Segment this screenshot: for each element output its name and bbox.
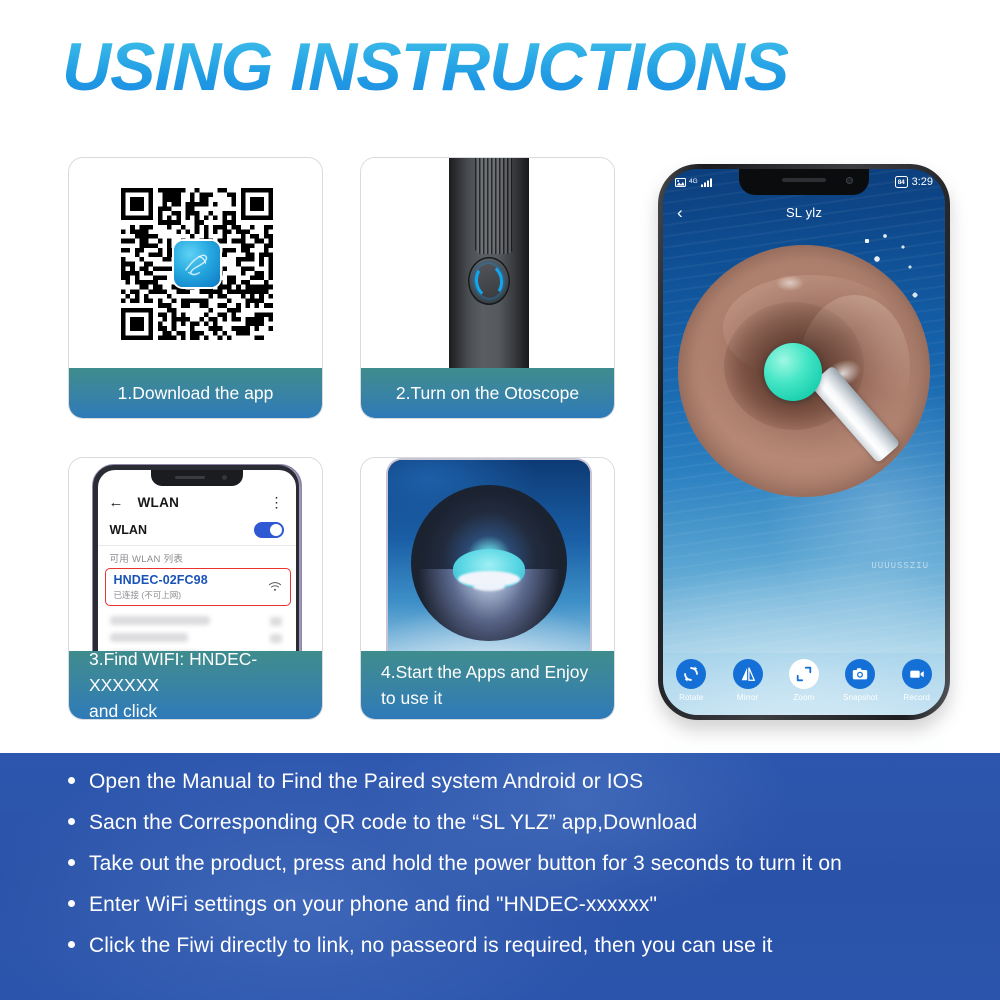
otoscope-circular-view — [411, 485, 567, 641]
wifi-status: 已连接 (不可上网) — [114, 589, 282, 601]
power-button[interactable] — [468, 257, 510, 305]
wifi-icon — [268, 581, 282, 592]
list-item: Enter WiFi settings on your phone and fi… — [68, 890, 970, 920]
device-stage — [361, 158, 614, 370]
divider — [98, 545, 296, 546]
wlan-stage: ← WLAN ⋮ WLAN 可用 WLAN 列表 HNDEC-02FC98 已连… — [69, 458, 322, 653]
wlan-phone-mockup: ← WLAN ⋮ WLAN 可用 WLAN 列表 HNDEC-02FC98 已连… — [92, 464, 302, 653]
list-item-text: Click the Fiwi directly to link, no pass… — [89, 931, 773, 961]
back-arrow-icon[interactable]: ← — [109, 495, 124, 510]
main-phone-screen: 4G 84 3:29 ‹ SL ylz — [663, 169, 945, 715]
wlan-toggle-label: WLAN — [110, 523, 148, 537]
camera-control-bar: Rotate Mirror — [663, 653, 945, 715]
app-bar: ‹ SL ylz — [663, 197, 945, 227]
list-item: Open the Manual to Find the Paired syste… — [68, 767, 970, 797]
status-bar-left: 4G — [675, 178, 712, 187]
wifi-network-item-highlighted[interactable]: HNDEC-02FC98 已连接 (不可上网) — [105, 568, 291, 606]
network-type-label: 4G — [689, 179, 698, 186]
video-watermark: UUUUSSZIU — [871, 561, 929, 571]
app-logo-icon — [174, 241, 220, 287]
qr-area — [69, 158, 322, 370]
list-item: Sacn the Corresponding QR code to the “S… — [68, 808, 970, 838]
control-mirror[interactable]: Mirror — [722, 659, 774, 702]
step-caption-3: 3.Find WIFI: HNDEC-XXXXXX and click — [69, 651, 322, 719]
bullet-dot — [68, 859, 75, 866]
list-item-text: Enter WiFi settings on your phone and fi… — [89, 890, 657, 920]
status-bar-time: 3:29 — [912, 176, 933, 188]
control-snapshot[interactable]: Snapshot — [834, 659, 886, 702]
step-caption-1: 1.Download the app — [69, 368, 322, 418]
step-caption-1-text: 1.Download the app — [118, 382, 274, 405]
step-caption-3-text: 3.Find WIFI: HNDEC-XXXXXX and click — [81, 646, 310, 720]
rotate-icon — [676, 659, 706, 689]
step-caption-4-text: 4.Start the Apps and Enjoy to use it — [373, 659, 588, 711]
list-item-text: Sacn the Corresponding QR code to the “S… — [89, 808, 697, 838]
bullet-dot — [68, 941, 75, 948]
instructions-panel: Open the Manual to Find the Paired syste… — [0, 753, 1000, 1000]
page-title: USING INSTRUCTIONS — [62, 22, 788, 112]
step-card-2: 2.Turn on the Otoscope — [360, 157, 615, 419]
step-caption-4: 4.Start the Apps and Enjoy to use it — [361, 651, 614, 719]
wlan-toggle-switch[interactable] — [254, 522, 284, 538]
view-stage — [361, 458, 614, 653]
main-phone-showcase: 4G 84 3:29 ‹ SL ylz — [640, 150, 970, 750]
wlan-appbar: ← WLAN ⋮ — [98, 488, 296, 516]
list-item-text: Take out the product, press and hold the… — [89, 849, 842, 879]
step-caption-2-text: 2.Turn on the Otoscope — [396, 382, 579, 405]
zoom-icon — [789, 659, 819, 689]
step-caption-2: 2.Turn on the Otoscope — [361, 368, 614, 418]
power-ring-icon — [472, 262, 504, 300]
instructions-list: Open the Manual to Find the Paired syste… — [68, 767, 970, 972]
control-zoom-label: Zoom — [794, 693, 815, 702]
control-rotate-label: Rotate — [679, 693, 703, 702]
step-card-4: 4.Start the Apps and Enjoy to use it — [360, 457, 615, 720]
control-mirror-label: Mirror — [737, 693, 758, 702]
signal-bars-icon — [701, 178, 712, 187]
light-flare-secondary — [473, 582, 505, 591]
main-phone-frame: 4G 84 3:29 ‹ SL ylz — [658, 164, 950, 720]
wlan-toggle-row[interactable]: WLAN — [98, 517, 296, 543]
wlan-section-label: 可用 WLAN 列表 — [110, 551, 184, 565]
step-caption-4-line1: 4.Start the Apps and Enjoy — [377, 659, 588, 685]
wifi-icon-blurred — [270, 617, 282, 626]
camera-icon — [845, 659, 875, 689]
control-snapshot-label: Snapshot — [843, 693, 878, 702]
more-vertical-icon[interactable]: ⋮ — [270, 495, 284, 509]
bullet-dot — [68, 818, 75, 825]
qr-code[interactable] — [121, 188, 273, 340]
wifi-icon-blurred — [270, 634, 282, 643]
view-phone-mockup — [386, 458, 592, 653]
wlan-appbar-title: WLAN — [138, 495, 180, 510]
bullet-dot — [68, 777, 75, 784]
bullet-dot — [68, 900, 75, 907]
app-bar-title: SL ylz — [663, 205, 945, 220]
step-card-3: ← WLAN ⋮ WLAN 可用 WLAN 列表 HNDEC-02FC98 已连… — [68, 457, 323, 720]
photo-icon — [675, 178, 686, 187]
step-caption-3-line1: 3.Find WIFI: HNDEC-XXXXXX — [85, 646, 310, 698]
wifi-network-item-blurred[interactable] — [110, 633, 188, 642]
control-rotate[interactable]: Rotate — [665, 659, 717, 702]
wifi-ssid: HNDEC-02FC98 — [114, 573, 282, 587]
wlan-screen: ← WLAN ⋮ WLAN 可用 WLAN 列表 HNDEC-02FC98 已连… — [98, 470, 296, 653]
list-item: Take out the product, press and hold the… — [68, 849, 970, 879]
list-item: Click the Fiwi directly to link, no pass… — [68, 931, 970, 961]
control-zoom[interactable]: Zoom — [778, 659, 830, 702]
grip-ribs — [475, 158, 513, 254]
control-record[interactable]: Record — [891, 659, 943, 702]
control-record-label: Record — [904, 693, 930, 702]
step-caption-3-line2: and click — [85, 698, 310, 720]
step-caption-4-line2: to use it — [377, 685, 588, 711]
wifi-network-item-blurred[interactable] — [110, 616, 210, 625]
status-bar: 4G 84 3:29 — [663, 169, 945, 195]
battery-icon: 84 — [895, 176, 908, 188]
list-item-text: Open the Manual to Find the Paired syste… — [89, 767, 643, 797]
phone-notch — [151, 470, 243, 486]
ear-canal-camera-view — [678, 245, 930, 497]
step-card-1: 1.Download the app — [68, 157, 323, 419]
otoscope-body — [449, 158, 529, 374]
mirror-icon — [733, 659, 763, 689]
status-bar-right: 84 3:29 — [895, 176, 933, 188]
header: USING INSTRUCTIONS — [0, 22, 1000, 112]
video-icon — [902, 659, 932, 689]
